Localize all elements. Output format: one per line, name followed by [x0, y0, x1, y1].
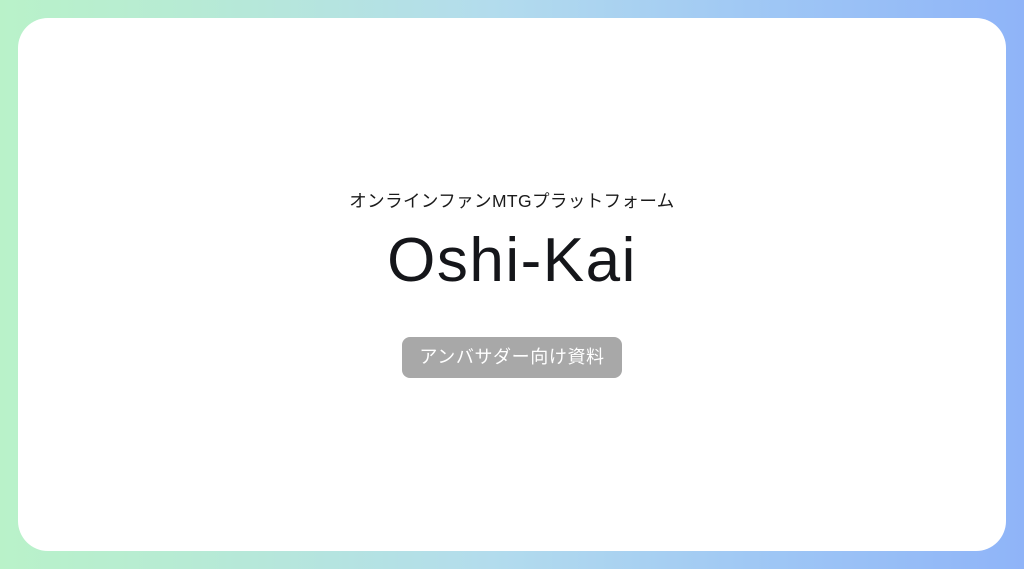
slide-white-card: オンラインファンMTGプラットフォーム Oshi-Kai アンバサダー向け資料 — [18, 18, 1006, 551]
slide-title: Oshi-Kai — [387, 228, 637, 295]
badge-row: アンバサダー向け資料 — [402, 337, 621, 378]
slide-subtitle: オンラインファンMTGプラットフォーム — [349, 190, 674, 214]
audience-badge: アンバサダー向け資料 — [402, 337, 621, 378]
slide-gradient-frame: オンラインファンMTGプラットフォーム Oshi-Kai アンバサダー向け資料 — [0, 0, 1024, 569]
title-block: オンラインファンMTGプラットフォーム Oshi-Kai アンバサダー向け資料 — [18, 190, 1006, 378]
